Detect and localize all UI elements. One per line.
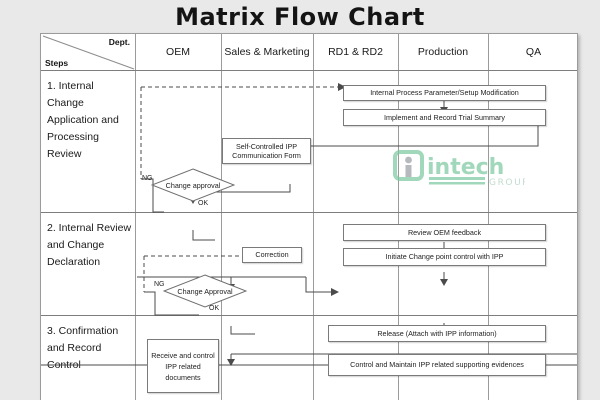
page-title: Matrix Flow Chart	[0, 2, 600, 32]
diamond-shape-icon	[163, 274, 247, 308]
box-internal-process-parameter[interactable]: Internal Process Parameter/Setup Modific…	[343, 85, 546, 101]
box-correction[interactable]: Correction	[242, 247, 302, 263]
matrix-flow-chart-table: Dept. Steps OEM Sales & Marketing RD1 & …	[40, 33, 578, 400]
svg-text:intech: intech	[427, 155, 504, 180]
column-header-oem: OEM	[135, 34, 221, 70]
box-receive-control-ipp-documents[interactable]: Receive and control IPP related document…	[147, 339, 219, 393]
decision-change-approval-row2[interactable]: Change Approval	[163, 274, 247, 308]
box-self-controlled-ipp-communication-form[interactable]: Self-Controlled IPP Communication Form	[222, 138, 311, 164]
diamond-shape-icon	[151, 168, 235, 202]
column-header-production: Production	[398, 34, 488, 70]
header-divider	[41, 70, 577, 71]
corner-steps-label: Steps	[45, 58, 68, 68]
column-header-rd1-rd2: RD1 & RD2	[313, 34, 398, 70]
row-divider-2	[41, 315, 577, 316]
branch-label-ng-row2: NG	[154, 281, 165, 288]
decision-change-approval-row1[interactable]: Change approval	[151, 168, 235, 202]
row-divider-1	[41, 212, 577, 213]
table-header-row: Dept. Steps OEM Sales & Marketing RD1 & …	[41, 34, 577, 70]
branch-label-ok-row1: OK	[198, 200, 208, 207]
corner-dept-label: Dept.	[109, 37, 130, 47]
svg-text:GROUP: GROUP	[489, 178, 525, 188]
box-release-attach-ipp-information[interactable]: Release (Attach with IPP information)	[328, 325, 546, 342]
column-divider-oem	[221, 34, 222, 400]
column-header-qa: QA	[488, 34, 578, 70]
box-initiate-change-point-control[interactable]: Initiate Change point control with IPP	[343, 248, 546, 266]
corner-cell: Dept. Steps	[41, 34, 135, 70]
row-label-2: 2. Internal Review and Change Declaratio…	[47, 220, 133, 271]
column-divider-sales	[313, 34, 314, 400]
branch-label-ok-row2: OK	[209, 305, 219, 312]
box-review-oem-feedback[interactable]: Review OEM feedback	[343, 224, 546, 241]
intech-group-watermark: intech GROUP	[393, 146, 525, 194]
branch-label-ng-row1: NG	[142, 175, 153, 182]
column-divider-steps	[135, 34, 136, 400]
column-header-sales-marketing: Sales & Marketing	[221, 34, 313, 70]
row-label-3: 3. Confirmation and Record Control	[47, 323, 133, 374]
box-implement-record-trial-summary[interactable]: Implement and Record Trial Summary	[343, 109, 546, 126]
box-control-maintain-ipp-evidences[interactable]: Control and Maintain IPP related support…	[328, 354, 546, 376]
row-label-1: 1. Internal Change Application and Proce…	[47, 78, 133, 163]
